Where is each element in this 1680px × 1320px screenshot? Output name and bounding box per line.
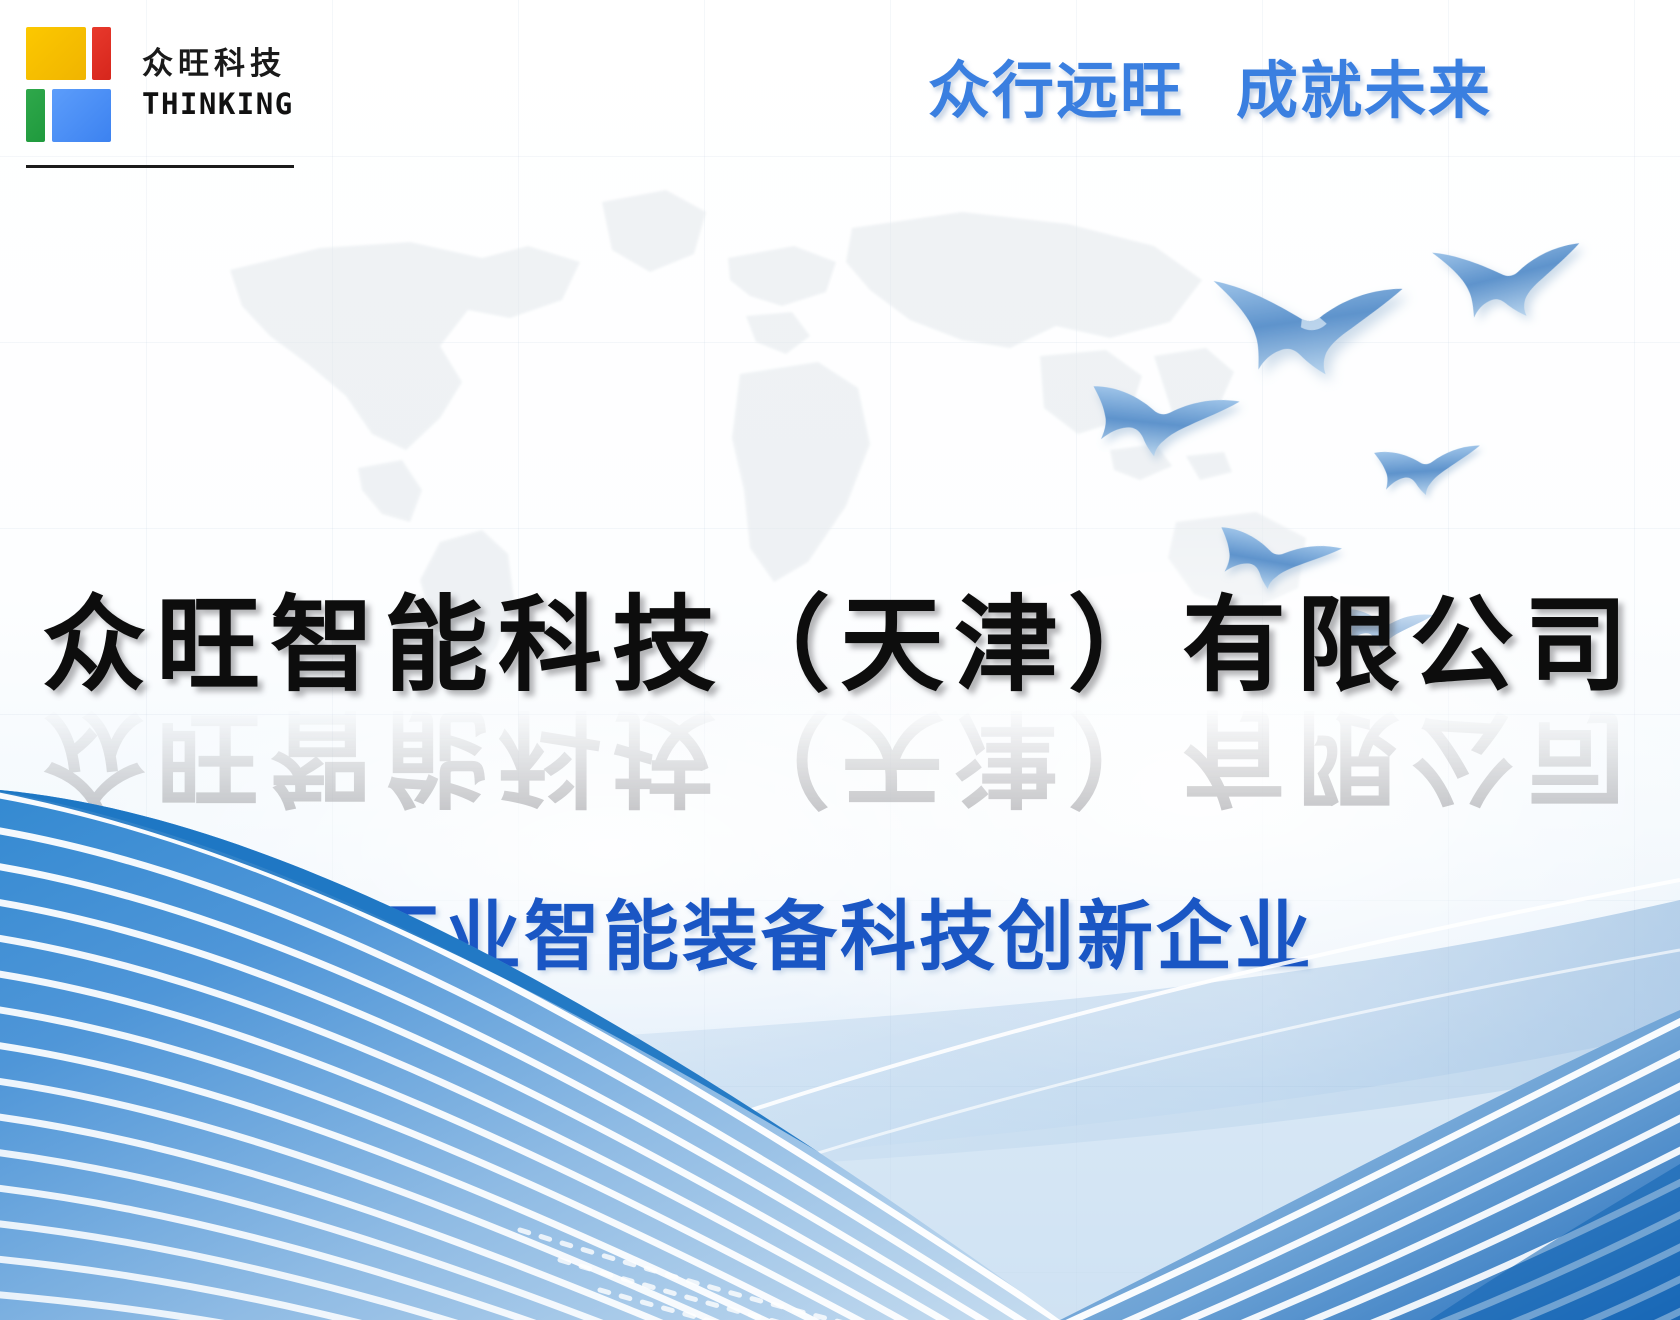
tagline-part-right: 成就未来 (1236, 54, 1492, 127)
logo-name-en: THINKING (142, 90, 294, 119)
page-subtitle: 工业智能装备科技创新企业 (0, 895, 1680, 979)
logo-tile-red (92, 27, 111, 80)
presentation-slide: 众旺科技 THINKING 众行远旺成就未来 (0, 0, 1680, 1320)
tagline-part-left: 众行远旺 (928, 54, 1184, 127)
logo-tiles-icon (26, 27, 120, 145)
logo-underline-divider (26, 165, 294, 168)
page-title: 众旺智能科技（天津）有限公司 (0, 590, 1680, 700)
header-tagline: 众行远旺成就未来 (928, 60, 1492, 122)
company-logo: 众旺科技 THINKING (26, 27, 294, 145)
page-title-reflection: 众旺智能科技（天津）有限公司 (0, 702, 1680, 812)
logo-name-cn: 众旺科技 (142, 49, 294, 80)
title-group: 众旺智能科技（天津）有限公司 众旺智能科技（天津）有限公司 (0, 590, 1680, 812)
logo-tile-green (26, 89, 45, 142)
logo-tile-yellow (26, 27, 86, 80)
logo-tile-blue (52, 89, 111, 142)
logo-wordmark: 众旺科技 THINKING (142, 49, 294, 123)
